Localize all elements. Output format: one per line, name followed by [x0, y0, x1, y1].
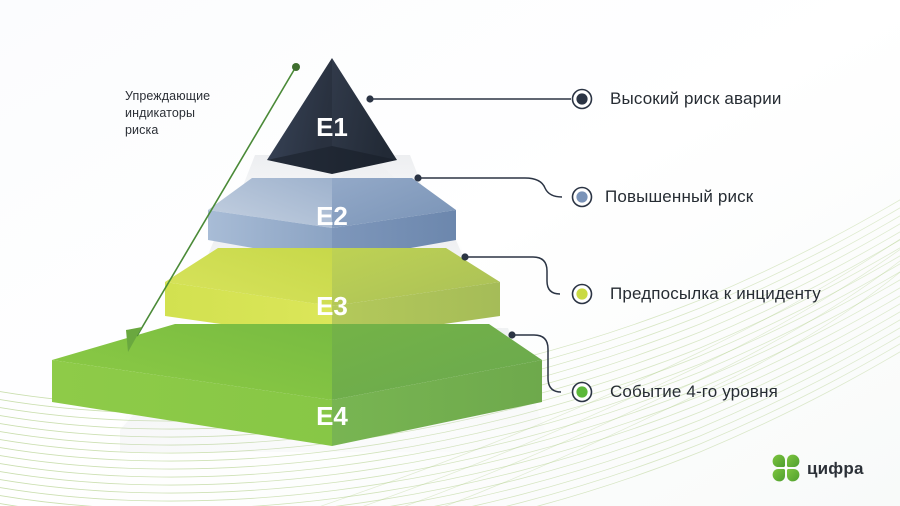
connector-line-3	[465, 257, 560, 294]
connector-line-2	[418, 178, 562, 197]
connector-start-dots	[366, 95, 515, 338]
legend-label-3[interactable]: Предпосылка к инциденту	[610, 284, 821, 304]
brand-name: цифра	[807, 459, 864, 479]
connector-line-4	[512, 335, 561, 392]
legend-bullet-1	[573, 90, 592, 109]
legend-bullet-4	[573, 383, 592, 402]
legend-label-4[interactable]: Событие 4-го уровня	[610, 382, 778, 402]
legend-bullet-2	[573, 188, 592, 207]
clover-icon	[770, 452, 802, 484]
brand-logo[interactable]	[770, 452, 802, 484]
legend-label-2[interactable]: Повышенный риск	[605, 187, 753, 207]
slide-canvas: E1 E2 E3 E4	[0, 0, 900, 506]
legend-bullets	[573, 90, 592, 402]
legend-label-1[interactable]: Высокий риск аварии	[610, 89, 782, 109]
risk-indicator-caption: Упреждающие индикаторы риска	[125, 88, 245, 139]
connector-lines	[0, 0, 900, 506]
legend-bullet-3	[573, 285, 592, 304]
